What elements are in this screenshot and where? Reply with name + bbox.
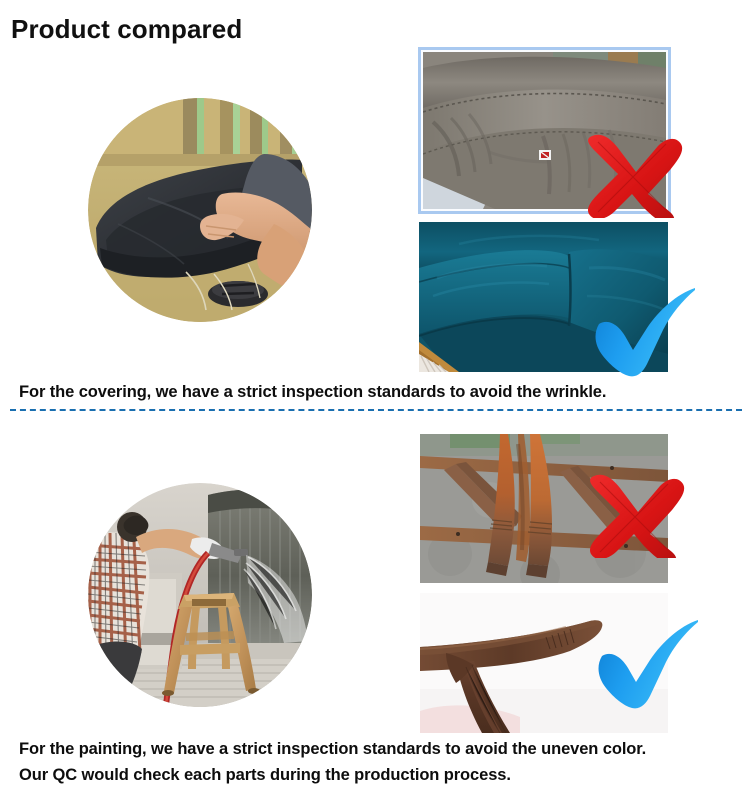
smooth-teal-sofa-illustration (419, 222, 668, 372)
spray-painting-photo (88, 483, 312, 707)
caption-covering: For the covering, we have a strict inspe… (19, 383, 606, 402)
upholstery-fitting-illustration (88, 98, 312, 322)
wrinkled-grey-sofa-illustration (423, 52, 666, 209)
page-title: Product compared (11, 14, 242, 45)
wrinkled-grey-sofa-frame (423, 52, 666, 209)
uneven-color-legs-illustration (420, 434, 668, 583)
even-walnut-leg-illustration (420, 593, 668, 733)
spray-painting-illustration (88, 483, 312, 707)
smooth-teal-sofa-photo (419, 222, 668, 372)
product-compared-page: Product compared (0, 0, 750, 800)
section-divider (10, 409, 742, 411)
caption-painting-line-2: Our QC would check each parts during the… (19, 766, 511, 785)
caption-painting-line-1: For the painting, we have a strict inspe… (19, 740, 646, 759)
upholstery-fitting-photo (88, 98, 312, 322)
uneven-color-legs-photo (420, 434, 668, 583)
even-walnut-leg-photo (420, 593, 668, 733)
wrinkled-grey-sofa-photo (418, 47, 671, 214)
